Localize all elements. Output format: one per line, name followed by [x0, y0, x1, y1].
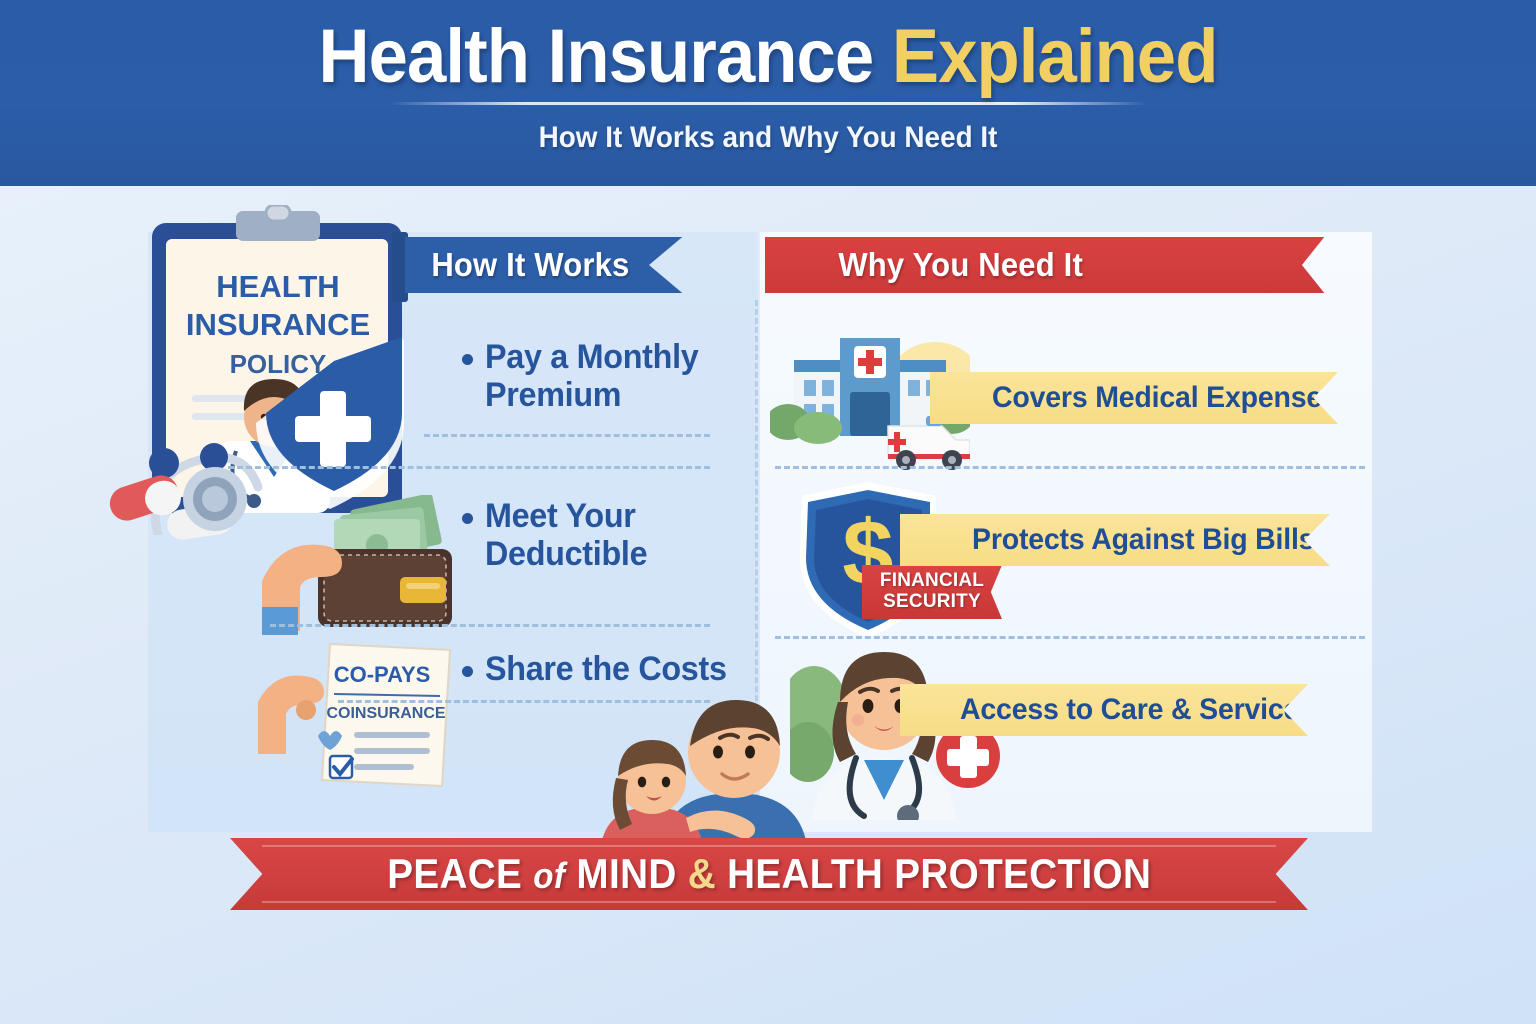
footer-text-2: MIND — [576, 850, 676, 897]
left-divider-2 — [270, 624, 710, 627]
why-you-need-it-banner: Why You Need It — [765, 237, 1324, 293]
right-divider-2 — [775, 636, 1365, 639]
page-title-accent: Explained — [892, 14, 1217, 99]
bullet-dot-icon — [462, 354, 473, 365]
footer-text-3: HEALTH PROTECTION — [727, 850, 1151, 897]
copays-document-icon: CO-PAYS COINSURANCE — [258, 640, 488, 795]
hand — [258, 676, 324, 754]
left-item-3: Share the Costs — [462, 650, 739, 688]
financial-badge-line-2: SECURITY — [883, 592, 981, 613]
left-item-3-text: Share the Costs — [485, 650, 727, 688]
footer-amp: & — [687, 850, 715, 897]
left-item-1-line-2: Premium — [485, 376, 698, 414]
left-divider-1b — [228, 466, 710, 469]
why-you-need-it-label: Why You Need It — [838, 246, 1083, 284]
infographic-poster: Health Insurance Explained How It Works … — [0, 0, 1536, 1024]
right-item-1-banner: Covers Medical Expenses — [930, 372, 1338, 424]
title-divider — [388, 102, 1148, 105]
header-banner: Health Insurance Explained How It Works … — [0, 0, 1536, 186]
bullet-dot-icon — [462, 513, 473, 524]
bullet-dot-icon — [462, 666, 473, 677]
left-item-1-text: Pay a Monthly Premium — [485, 338, 698, 414]
copays-line-2: COINSURANCE — [326, 705, 445, 722]
left-item-2: Meet Your Deductible — [462, 497, 656, 573]
footer-text-of: of — [533, 855, 565, 896]
footer-banner-inner: PEACE of MIND & HEALTH PROTECTION — [262, 845, 1275, 903]
copays-line-1: CO-PAYS — [334, 662, 431, 687]
right-item-3-banner: Access to Care & Services — [900, 684, 1308, 736]
how-it-works-label: How It Works — [431, 246, 629, 284]
right-item-1-label: Covers Medical Expenses — [992, 381, 1338, 415]
how-it-works-banner: How It Works — [405, 237, 682, 293]
financial-security-badge: FINANCIAL SECURITY — [862, 565, 1002, 619]
left-item-1: Pay a Monthly Premium — [462, 338, 710, 414]
left-item-2-line-1: Meet Your — [485, 497, 647, 535]
clipboard-line-1: HEALTH — [216, 269, 339, 304]
left-item-2-line-2: Deductible — [485, 535, 647, 573]
right-divider-1 — [775, 466, 1365, 469]
left-divider-3 — [338, 700, 710, 703]
footer-banner: PEACE of MIND & HEALTH PROTECTION — [230, 838, 1308, 910]
clipboard-line-3: POLICY — [230, 349, 327, 379]
clipboard-line-2: INSURANCE — [186, 307, 370, 342]
left-item-2-text: Meet Your Deductible — [485, 497, 647, 573]
page-title-main: Health Insurance — [319, 14, 874, 99]
right-item-2-label: Protects Against Big Bills — [972, 523, 1314, 557]
footer-text-1: PEACE — [387, 850, 522, 897]
financial-badge-line-1: FINANCIAL — [880, 571, 984, 592]
wallet-money-icon — [262, 495, 472, 640]
page-title: Health Insurance Explained — [54, 18, 1482, 96]
right-item-3-label: Access to Care & Services — [960, 693, 1315, 727]
right-item-2-banner: Protects Against Big Bills — [900, 514, 1330, 566]
page-subtitle: How It Works and Why You Need It — [54, 121, 1482, 155]
left-item-3-line-1: Share the Costs — [485, 650, 727, 688]
left-divider-1 — [424, 434, 710, 437]
left-item-1-line-1: Pay a Monthly — [485, 338, 698, 376]
footer-text: PEACE of MIND & HEALTH PROTECTION — [387, 850, 1151, 898]
